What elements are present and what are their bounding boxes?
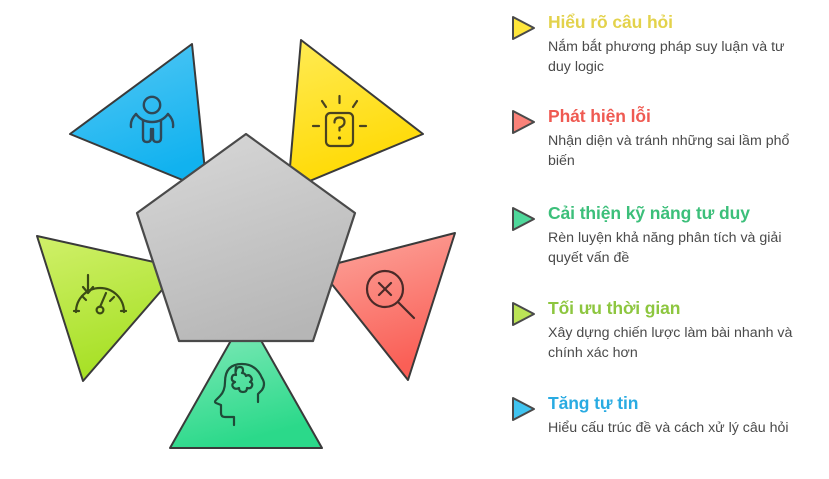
play-triangle-icon	[508, 299, 538, 329]
legend-text-0: Hiểu rõ câu hỏi Nắm bắt phương pháp suy …	[548, 12, 829, 77]
segment-understand-question-triangle[interactable]	[288, 40, 423, 190]
legend-desc-3: Xây dựng chiến lược làm bài nhanh và chí…	[548, 324, 796, 363]
legend-title-4: Tăng tự tin	[548, 393, 829, 414]
legend-item-4[interactable]: Tăng tự tin Hiểu cấu trúc đề và cách xử …	[508, 393, 829, 439]
play-triangle-icon	[508, 204, 538, 234]
pentagon-diagram	[0, 0, 500, 479]
segment-confidence[interactable]	[70, 44, 207, 190]
play-triangle-icon	[508, 13, 538, 43]
legend-item-3[interactable]: Tối ưu thời gian Xây dựng chiến lược làm…	[508, 298, 829, 363]
legend-title-3: Tối ưu thời gian	[548, 298, 829, 319]
legend-panel: Hiểu rõ câu hỏi Nắm bắt phương pháp suy …	[500, 0, 829, 479]
legend-desc-4: Hiểu cấu trúc đề và cách xử lý câu hỏi	[548, 419, 796, 439]
legend-title-2: Cải thiện kỹ năng tư duy	[548, 203, 829, 224]
legend-text-3: Tối ưu thời gian Xây dựng chiến lược làm…	[548, 298, 829, 363]
legend-title-1: Phát hiện lỗi	[548, 106, 829, 127]
legend-desc-2: Rèn luyện khả năng phân tích và giải quy…	[548, 229, 796, 268]
legend-text-2: Cải thiện kỹ năng tư duy Rèn luyện khả n…	[548, 203, 829, 268]
legend-item-2[interactable]: Cải thiện kỹ năng tư duy Rèn luyện khả n…	[508, 203, 829, 268]
diagram-canvas	[0, 0, 500, 479]
legend-desc-0: Nắm bắt phương pháp suy luận và tư duy l…	[548, 38, 796, 77]
play-triangle-icon	[508, 394, 538, 424]
play-triangle-icon	[508, 107, 538, 137]
infographic-root: Hiểu rõ câu hỏi Nắm bắt phương pháp suy …	[0, 0, 829, 479]
segment-understand-question[interactable]	[288, 40, 423, 190]
legend-title-0: Hiểu rõ câu hỏi	[548, 12, 829, 33]
legend-item-1[interactable]: Phát hiện lỗi Nhận diện và tránh những s…	[508, 106, 829, 171]
legend-text-1: Phát hiện lỗi Nhận diện và tránh những s…	[548, 106, 829, 171]
legend-item-0[interactable]: Hiểu rõ câu hỏi Nắm bắt phương pháp suy …	[508, 12, 829, 77]
legend-text-4: Tăng tự tin Hiểu cấu trúc đề và cách xử …	[548, 393, 829, 439]
legend-desc-1: Nhận diện và tránh những sai lầm phổ biế…	[548, 132, 796, 171]
